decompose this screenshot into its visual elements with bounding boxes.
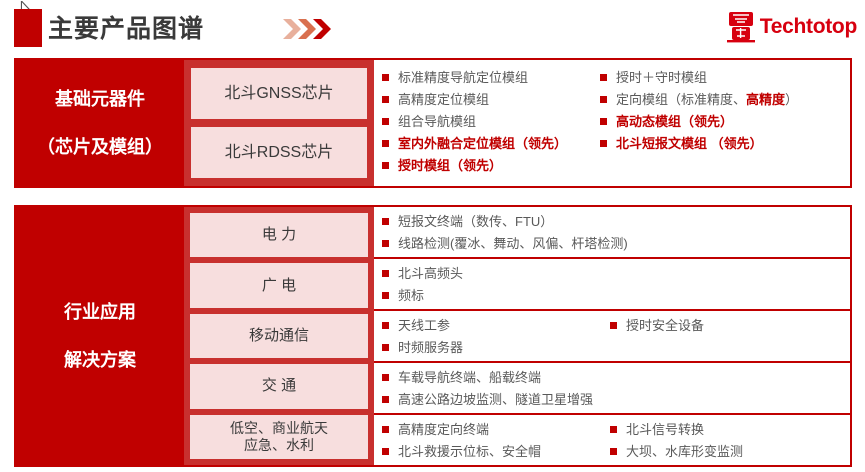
section-applications: 行业应用 解决方案 电 力 广 电 移动通信 交 通 低空、商业航天 应急、水利… [14, 205, 852, 467]
list-item-label: 高精度定向终端 [398, 420, 489, 439]
row-column-left: 北斗高频头 频标 [380, 264, 608, 309]
bullet-square-icon [600, 118, 607, 125]
section-applications-label-line2: 解决方案 [64, 348, 136, 372]
table-row: 短报文终端（数传、FTU） 线路检测(覆冰、舞动、风偏、杆塔检测) [374, 207, 850, 257]
bullet-square-icon [610, 426, 617, 433]
bullet-square-icon [382, 322, 389, 329]
list-item: 频标 [380, 286, 608, 305]
bullet-square-icon [382, 448, 389, 455]
list-item: 短报文终端（数传、FTU） [380, 212, 628, 231]
list-item: 定向模组（标准精度、高精度） [598, 90, 850, 109]
list-item: 北斗信号转换 [608, 420, 850, 439]
page-title: 主要产品图谱 [48, 12, 204, 46]
bullet-square-icon [382, 374, 389, 381]
list-item: 高精度定位模组 [380, 90, 598, 109]
row-column-left: 短报文终端（数传、FTU） 线路检测(覆冰、舞动、风偏、杆塔检测) [380, 212, 628, 257]
list-item: 高精度定向终端 [380, 420, 608, 439]
table-row: 车载导航终端、船载终端 高速公路边坡监测、隧道卫星增强 [374, 361, 850, 413]
list-item-tail: ） [785, 90, 798, 109]
chip-mobile-comm[interactable]: 移动通信 [190, 314, 368, 358]
list-item-label: 高精度定位模组 [398, 90, 489, 109]
applications-content: 短报文终端（数传、FTU） 线路检测(覆冰、舞动、风偏、杆塔检测) 北斗高频头 … [374, 207, 850, 465]
bullet-square-icon [382, 162, 389, 169]
bullet-square-icon [610, 448, 617, 455]
list-item-label: 车载导航终端、船载终端 [398, 368, 541, 387]
list-item-label: 标准精度导航定位模组 [398, 68, 528, 87]
list-item-label: 线路检测(覆冰、舞动、风偏、杆塔检测) [398, 234, 628, 253]
bullet-square-icon [382, 218, 389, 225]
row-column-right [628, 212, 850, 257]
chevron-arrows-icon [283, 14, 335, 44]
list-item: 天线工参 [380, 316, 608, 335]
bullet-square-icon [382, 74, 389, 81]
chip-lowaltitude-aerospace-emergency-water[interactable]: 低空、商业航天 应急、水利 [190, 415, 368, 459]
list-item: 授时＋守时模组 [598, 68, 850, 87]
list-item-label: 北斗高频头 [398, 264, 463, 283]
bullet-square-icon [382, 396, 389, 403]
bullet-square-icon [600, 96, 607, 103]
list-item: 组合导航模组 [380, 112, 598, 131]
list-item-label: 北斗短报文模组 （领先） [616, 134, 763, 153]
list-item: 大坝、水库形变监测 [608, 442, 850, 461]
section-components-label-line2: （芯片及模组） [37, 135, 163, 159]
list-item-label: 天线工参 [398, 316, 450, 335]
bullet-square-icon [600, 140, 607, 147]
bullet-square-icon [382, 118, 389, 125]
row-column-right [720, 368, 850, 413]
chip-power[interactable]: 电 力 [190, 213, 368, 257]
row-column-right [608, 264, 850, 309]
list-item-label: 北斗信号转换 [626, 420, 704, 439]
section-applications-label-line1: 行业应用 [64, 300, 136, 324]
bullet-square-icon [382, 270, 389, 277]
components-content: 标准精度导航定位模组 高精度定位模组 组合导航模组 室内外融合定位模组（领先） … [374, 60, 850, 186]
brand-logo: Techtotop [726, 10, 857, 44]
bullet-square-icon [382, 140, 389, 147]
bullet-square-icon [600, 74, 607, 81]
chip-transport[interactable]: 交 通 [190, 364, 368, 408]
list-item: 线路检测(覆冰、舞动、风偏、杆塔检测) [380, 234, 628, 253]
chip-broadcasting[interactable]: 广 电 [190, 263, 368, 307]
page-header: 主要产品图谱 Techtotop [0, 0, 865, 56]
section-components-label-line1: 基础元器件 [37, 87, 163, 111]
row-column-left: 天线工参 时频服务器 [380, 316, 608, 361]
bullet-square-icon [382, 344, 389, 351]
list-item-label: 频标 [398, 286, 424, 305]
section-components-label: 基础元器件 （芯片及模组） [16, 60, 184, 186]
table-row: 天线工参 时频服务器 授时安全设备 [374, 309, 850, 361]
title-accent-block [14, 9, 42, 47]
chip-beidou-gnss[interactable]: 北斗GNSS芯片 [191, 68, 367, 119]
list-item: 车载导航终端、船载终端 [380, 368, 720, 387]
list-item: 北斗救援示位标、安全帽 [380, 442, 608, 461]
row-column-left: 高精度定向终端 北斗救援示位标、安全帽 [380, 420, 608, 465]
list-item-label: 大坝、水库形变监测 [626, 442, 743, 461]
components-chip-group: 北斗GNSS芯片 北斗RDSS芯片 [184, 60, 374, 186]
applications-chip-group: 电 力 广 电 移动通信 交 通 低空、商业航天 应急、水利 [184, 207, 374, 465]
list-item: 室内外融合定位模组（领先） [380, 134, 598, 153]
list-item-label: 室内外融合定位模组（领先） [398, 134, 567, 153]
list-item: 北斗高频头 [380, 264, 608, 283]
list-item-label: 授时＋守时模组 [616, 68, 707, 87]
list-item: 高动态模组（领先） [598, 112, 850, 131]
list-item-label: 高动态模组（领先） [616, 112, 733, 131]
section-applications-label: 行业应用 解决方案 [16, 207, 184, 465]
bullet-square-icon [610, 322, 617, 329]
list-item-emphasis: 高精度 [746, 90, 785, 109]
list-item-label: 授时安全设备 [626, 316, 704, 335]
bullet-square-icon [382, 426, 389, 433]
section-components: 基础元器件 （芯片及模组） 北斗GNSS芯片 北斗RDSS芯片 标准精度导航定位… [14, 58, 852, 188]
list-item-label: 授时模组（领先） [398, 156, 502, 175]
bullet-square-icon [382, 292, 389, 299]
list-item-label: 时频服务器 [398, 338, 463, 357]
list-item-label: 北斗救援示位标、安全帽 [398, 442, 541, 461]
list-item: 高速公路边坡监测、隧道卫星增强 [380, 390, 720, 409]
bullet-square-icon [382, 240, 389, 247]
table-row: 高精度定向终端 北斗救援示位标、安全帽 北斗信号转换 大坝、水库形变监测 [374, 413, 850, 465]
list-item-label: 高速公路边坡监测、隧道卫星增强 [398, 390, 593, 409]
row-column-right: 授时安全设备 [608, 316, 850, 361]
list-item: 标准精度导航定位模组 [380, 68, 598, 87]
list-item: 授时模组（领先） [380, 156, 598, 175]
list-item: 授时安全设备 [608, 316, 850, 335]
logo-text: Techtotop [760, 15, 857, 39]
list-item-label: 定向模组（标准精度、 [616, 90, 746, 109]
techtotop-seal-icon [726, 10, 756, 44]
table-row: 北斗高频头 频标 [374, 257, 850, 309]
row-column-left: 车载导航终端、船载终端 高速公路边坡监测、隧道卫星增强 [380, 368, 720, 413]
list-item: 北斗短报文模组 （领先） [598, 134, 850, 153]
chip-beidou-rdss[interactable]: 北斗RDSS芯片 [191, 127, 367, 178]
list-item-label: 组合导航模组 [398, 112, 476, 131]
list-item: 时频服务器 [380, 338, 608, 357]
row-column-right: 北斗信号转换 大坝、水库形变监测 [608, 420, 850, 465]
components-column-right: 授时＋守时模组 定向模组（标准精度、高精度） 高动态模组（领先） 北斗短报文模组… [598, 68, 850, 186]
bullet-square-icon [382, 96, 389, 103]
components-column-left: 标准精度导航定位模组 高精度定位模组 组合导航模组 室内外融合定位模组（领先） … [380, 68, 598, 186]
list-item-label: 短报文终端（数传、FTU） [398, 212, 553, 231]
